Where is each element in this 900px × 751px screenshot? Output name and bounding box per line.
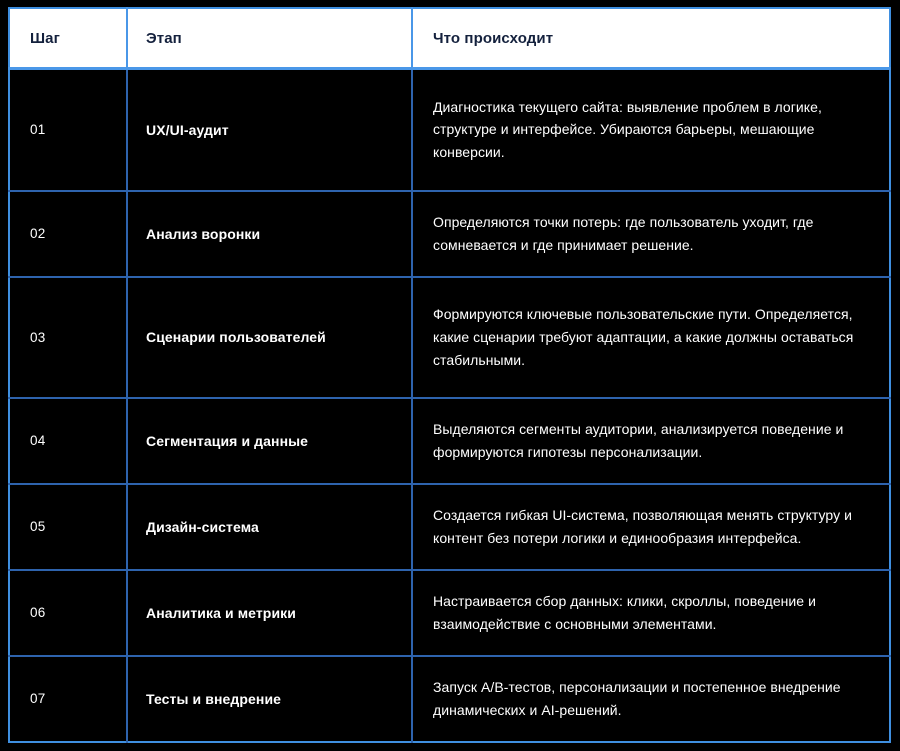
table-header: Шаг Этап Что происходит	[9, 8, 890, 69]
cell-step: 02	[9, 191, 127, 277]
cell-step: 05	[9, 484, 127, 570]
table-row: 03 Сценарии пользователей Формируются кл…	[9, 277, 890, 398]
cell-step: 01	[9, 69, 127, 191]
cell-stage: Тесты и внедрение	[127, 656, 412, 742]
process-steps-table: Шаг Этап Что происходит 01 UX/UI-аудит Д…	[8, 7, 891, 743]
table-row: 06 Аналитика и метрики Настраивается сбо…	[9, 570, 890, 656]
cell-what: Создается гибкая UI-система, позволяющая…	[412, 484, 890, 570]
column-header-stage: Этап	[127, 8, 412, 69]
cell-stage: Анализ воронки	[127, 191, 412, 277]
table-body: 01 UX/UI-аудит Диагностика текущего сайт…	[9, 69, 890, 743]
cell-what: Выделяются сегменты аудитории, анализиру…	[412, 398, 890, 484]
table-row: 05 Дизайн-система Создается гибкая UI-си…	[9, 484, 890, 570]
cell-step: 04	[9, 398, 127, 484]
table-row: 01 UX/UI-аудит Диагностика текущего сайт…	[9, 69, 890, 191]
cell-what: Формируются ключевые пользовательские пу…	[412, 277, 890, 398]
cell-stage: UX/UI-аудит	[127, 69, 412, 191]
cell-what: Диагностика текущего сайта: выявление пр…	[412, 69, 890, 191]
cell-step: 03	[9, 277, 127, 398]
cell-stage: Аналитика и метрики	[127, 570, 412, 656]
cell-stage: Сегментация и данные	[127, 398, 412, 484]
column-header-step: Шаг	[9, 8, 127, 69]
table-row: 07 Тесты и внедрение Запуск A/B-тестов, …	[9, 656, 890, 742]
column-header-what: Что происходит	[412, 8, 890, 69]
cell-step: 06	[9, 570, 127, 656]
table-row: 04 Сегментация и данные Выделяются сегме…	[9, 398, 890, 484]
cell-stage: Сценарии пользователей	[127, 277, 412, 398]
table-header-row: Шаг Этап Что происходит	[9, 8, 890, 69]
cell-what: Настраивается сбор данных: клики, скролл…	[412, 570, 890, 656]
cell-what: Запуск A/B-тестов, персонализации и пост…	[412, 656, 890, 742]
table-row: 02 Анализ воронки Определяются точки пот…	[9, 191, 890, 277]
cell-step: 07	[9, 656, 127, 742]
page-root: Шаг Этап Что происходит 01 UX/UI-аудит Д…	[0, 0, 900, 751]
cell-what: Определяются точки потерь: где пользоват…	[412, 191, 890, 277]
cell-stage: Дизайн-система	[127, 484, 412, 570]
